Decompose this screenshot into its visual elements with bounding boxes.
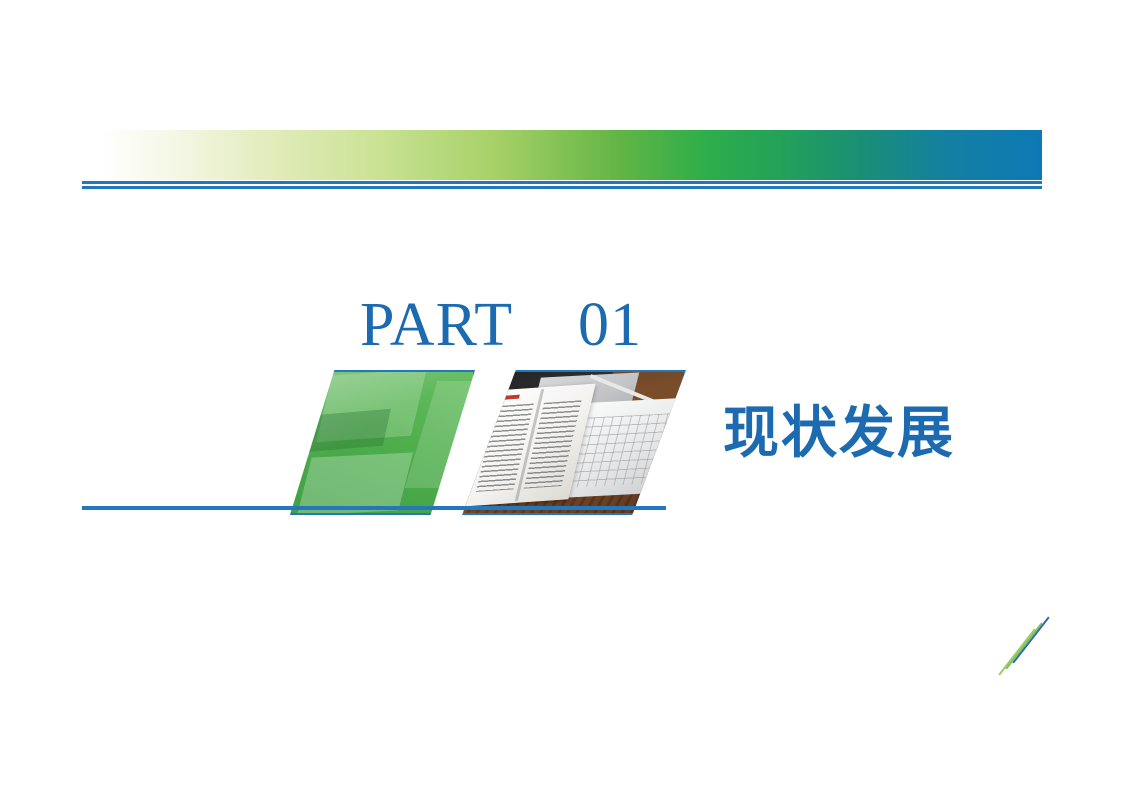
- image-panel-green: [290, 370, 475, 515]
- corner-stripes-decoration: [1000, 614, 1052, 666]
- divider-line-lower: [82, 186, 1042, 189]
- divider-line-upper: [82, 181, 1042, 184]
- green-tinted-photo: [290, 370, 475, 515]
- slide-canvas: PART 01: [0, 0, 1122, 793]
- laptop-keyboard-shape: [304, 409, 391, 452]
- corner-stripe-green-light: [1005, 623, 1042, 670]
- corner-stripe-blue: [1012, 617, 1049, 664]
- book-text-column-right: [524, 401, 582, 489]
- section-underline: [82, 506, 666, 510]
- part-number-heading: PART 01: [360, 294, 642, 356]
- header-gradient-band: [100, 130, 1042, 180]
- image-panel-photo: [462, 370, 686, 515]
- section-title: 现状发展: [723, 406, 955, 462]
- book-red-marker: [502, 395, 520, 401]
- image-parallelogram-group: [290, 370, 685, 515]
- desk-photo: [462, 370, 686, 515]
- corner-stripe-green: [998, 629, 1035, 676]
